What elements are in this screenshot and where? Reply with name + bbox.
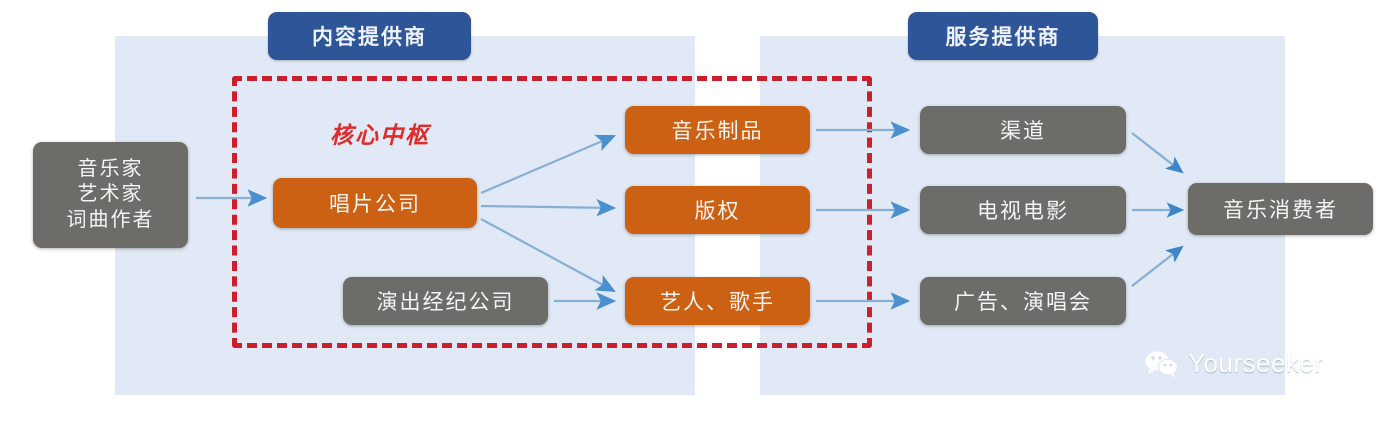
creators-line-3: 词曲作者 [67,208,155,234]
core-hub-label: 核心中枢 [330,116,430,150]
node-creators: 音乐家 艺术家 词曲作者 [33,142,188,248]
node-artists-singers: 艺人、歌手 [625,277,810,325]
node-performance-agency: 演出经纪公司 [343,277,548,325]
header-content-provider: 内容提供商 [268,12,471,60]
wechat-icon [1145,350,1179,378]
node-music-consumers: 音乐消费者 [1188,183,1373,235]
header-service-provider: 服务提供商 [908,12,1098,60]
diagram-canvas: 内容提供商 服务提供商 音乐家 艺术家 词曲作者 [0,0,1397,427]
watermark: Yourseeker [1145,348,1324,379]
node-ads-concerts: 广告、演唱会 [920,277,1126,325]
node-channel: 渠道 [920,106,1126,154]
node-tv-film: 电视电影 [920,186,1126,234]
creators-line-1: 音乐家 [78,157,144,183]
node-record-company: 唱片公司 [273,178,477,228]
node-music-products: 音乐制品 [625,106,810,154]
node-copyright: 版权 [625,186,810,234]
watermark-text: Yourseeker [1188,348,1324,379]
creators-line-2: 艺术家 [78,182,144,208]
